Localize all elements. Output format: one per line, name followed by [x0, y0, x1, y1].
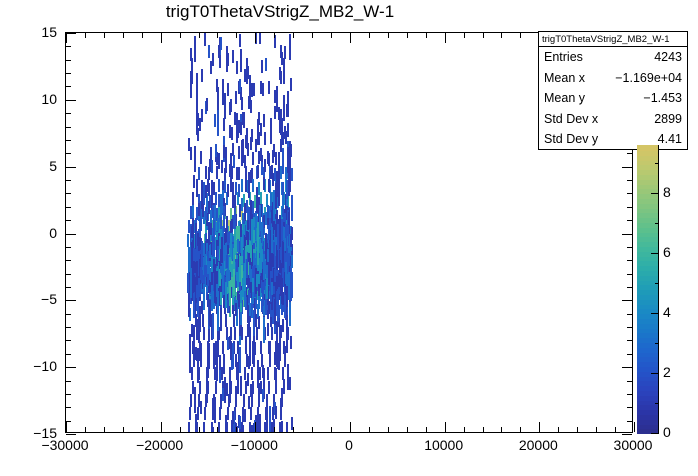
- y-axis-minor-tick-right: [627, 407, 632, 408]
- x-axis-minor-tick-top: [388, 33, 389, 38]
- y-axis-major-tick: [66, 434, 76, 435]
- heatmap-cell: [188, 248, 190, 274]
- heatmap-cell: [256, 274, 258, 287]
- heatmap-cell: [241, 179, 243, 192]
- y-axis-minor-tick: [66, 260, 71, 261]
- y-axis-minor-tick: [66, 140, 71, 141]
- heatmap-cell: [252, 179, 254, 192]
- x-axis-major-tick: [66, 422, 67, 432]
- stats-row-key: Std Dev x: [544, 109, 598, 130]
- x-axis-minor-tick-top: [293, 33, 294, 38]
- heatmap-cell: [244, 367, 246, 380]
- heatmap-cell: [244, 409, 246, 422]
- heatmap-cell: [218, 179, 220, 192]
- heatmap-cell: [208, 45, 210, 58]
- y-axis-minor-tick-right: [627, 381, 632, 382]
- heatmap-cell: [263, 177, 265, 190]
- heatmap-cell: [192, 205, 194, 218]
- x-axis-minor-tick-top: [180, 33, 181, 38]
- heatmap-cell: [204, 407, 206, 420]
- y-axis-minor-tick: [66, 340, 71, 341]
- heatmap-cell: [259, 33, 261, 44]
- heatmap-cell: [257, 375, 259, 388]
- x-axis-major-tick: [255, 422, 256, 432]
- heatmap-cell: [258, 316, 260, 329]
- heatmap-cell: [237, 239, 239, 252]
- heatmap-cell: [240, 383, 242, 396]
- x-axis-minor-tick-top: [85, 33, 86, 38]
- heatmap-cell: [260, 341, 262, 354]
- x-axis-minor-tick-top: [236, 33, 237, 38]
- heatmap-cell: [277, 296, 279, 322]
- heatmap-cell: [249, 303, 251, 316]
- heatmap-cell: [261, 162, 263, 175]
- heatmap-cell: [209, 245, 211, 258]
- color-scale-tick: [655, 283, 659, 284]
- color-scale-tick: [655, 163, 659, 164]
- heatmap-cell: [212, 53, 214, 66]
- heatmap-cell: [229, 336, 231, 349]
- heatmap-cell: [268, 227, 270, 240]
- x-axis-major-tick: [539, 422, 540, 432]
- heatmap-cell: [259, 239, 261, 252]
- heatmap-cell: [250, 384, 252, 397]
- heatmap-cell: [188, 422, 190, 432]
- heatmap-cell: [196, 261, 198, 274]
- y-axis-minor-tick-right: [627, 153, 632, 154]
- heatmap-cell: [267, 205, 269, 218]
- heatmap-cell: [201, 69, 203, 82]
- heatmap-cell: [223, 361, 225, 374]
- heatmap-cell: [290, 144, 292, 157]
- heatmap-cell: [250, 407, 252, 420]
- heatmap-cell: [213, 230, 215, 256]
- heatmap-cell: [279, 215, 281, 241]
- heatmap-cell: [190, 72, 192, 98]
- heatmap-cell: [225, 147, 227, 173]
- heatmap-cell: [247, 232, 249, 245]
- heatmap-cell: [289, 34, 291, 60]
- heatmap-cell: [245, 166, 247, 192]
- color-scale-tick: [651, 373, 659, 374]
- x-axis-minor-tick-top: [104, 33, 105, 38]
- heatmap-cell: [212, 205, 214, 218]
- x-axis-minor-tick: [85, 427, 86, 432]
- heatmap-cell: [267, 323, 269, 336]
- heatmap-cell: [190, 48, 192, 61]
- y-axis-major-tick: [66, 234, 76, 235]
- heatmap-cell: [259, 205, 261, 231]
- heatmap-cell: [225, 415, 227, 432]
- heatmap-cell: [277, 224, 279, 250]
- heatmap-cell: [226, 56, 228, 69]
- y-axis-major-tick-right: [622, 167, 632, 168]
- heatmap-cell: [224, 93, 226, 119]
- heatmap-cell: [291, 168, 293, 181]
- heatmap-cell: [232, 343, 234, 369]
- y-axis-minor-tick: [66, 394, 71, 395]
- heatmap-cell: [187, 234, 189, 247]
- x-axis-minor-tick: [520, 427, 521, 432]
- x-axis-tick-label: 20000: [493, 437, 583, 453]
- heatmap-cell: [219, 273, 221, 286]
- heatmap-cell: [268, 179, 270, 192]
- stats-row-value: 2899: [654, 109, 682, 130]
- x-axis-minor-tick: [199, 427, 200, 432]
- heatmap-cell: [216, 79, 218, 92]
- heatmap-cell: [274, 269, 276, 282]
- y-axis-minor-tick: [66, 287, 71, 288]
- heatmap-cell: [205, 207, 207, 220]
- heatmap-cell: [215, 381, 217, 394]
- heatmap-cell: [289, 377, 291, 390]
- x-axis-minor-tick-top: [274, 33, 275, 38]
- heatmap-cell: [258, 394, 260, 407]
- heatmap-cell: [269, 406, 271, 432]
- heatmap-cell: [288, 212, 290, 225]
- heatmap-cell: [221, 160, 223, 173]
- heatmap-cell: [283, 379, 285, 392]
- heatmap-cell: [248, 290, 250, 303]
- color-scale-tick: [651, 433, 659, 434]
- heatmap-cell: [209, 300, 211, 326]
- x-axis-tick-label: −20000: [115, 437, 205, 453]
- heatmap-cell: [241, 327, 243, 340]
- heatmap-cell: [275, 152, 277, 165]
- heatmap-cell: [262, 365, 264, 378]
- color-scale-tick: [655, 403, 659, 404]
- heatmap-cell: [237, 362, 239, 388]
- heatmap-cell: [239, 416, 241, 429]
- x-axis-minor-tick: [407, 427, 408, 432]
- heatmap-cell: [287, 124, 289, 137]
- heatmap-cell: [231, 127, 233, 140]
- heatmap-cell: [227, 83, 229, 96]
- x-axis-minor-tick-top: [123, 33, 124, 38]
- y-axis-minor-tick-right: [627, 327, 632, 328]
- heatmap-cell: [279, 67, 281, 80]
- heatmap-cell: [291, 255, 293, 268]
- stats-row: Std Dev x2899: [539, 109, 687, 130]
- x-axis-minor-tick: [558, 427, 559, 432]
- heatmap-cell: [212, 313, 214, 339]
- heatmap-cell: [216, 355, 218, 381]
- heatmap-cell: [198, 317, 200, 343]
- x-axis-minor-tick: [388, 427, 389, 432]
- y-axis-tick-label: 5: [11, 158, 57, 174]
- heatmap-cell: [247, 324, 249, 337]
- heatmap-cell: [258, 283, 260, 296]
- heatmap-cell: [225, 229, 227, 242]
- stats-box[interactable]: trigT0ThetaVStrigZ_MB2_W-1 Entries4243Me…: [538, 31, 688, 150]
- y-axis-minor-tick: [66, 73, 71, 74]
- heatmap-cell: [248, 396, 250, 409]
- x-axis-minor-tick: [217, 427, 218, 432]
- heatmap-cell: [262, 389, 264, 402]
- heatmap-cell: [264, 132, 266, 145]
- color-scale-tick-label: 0: [663, 424, 671, 440]
- heatmap-cell: [205, 166, 207, 179]
- heatmap-cell: [280, 398, 282, 411]
- x-axis-minor-tick-top: [426, 33, 427, 38]
- y-axis-tick-label: −10: [11, 358, 57, 374]
- y-axis-minor-tick: [66, 180, 71, 181]
- heatmap-cell: [247, 373, 249, 386]
- heatmap-cell: [257, 304, 259, 317]
- y-axis-minor-tick: [66, 220, 71, 221]
- y-axis-minor-tick: [66, 207, 71, 208]
- x-axis-minor-tick-top: [217, 33, 218, 38]
- x-axis-tick-label: −10000: [209, 437, 299, 453]
- heatmap-cell: [276, 321, 278, 347]
- heatmap-cell: [240, 49, 242, 62]
- heatmap-cell: [232, 50, 234, 63]
- y-axis-minor-tick: [66, 193, 71, 194]
- x-axis-minor-tick-top: [142, 33, 143, 38]
- x-axis-major-tick: [634, 422, 635, 432]
- heatmap-cell: [284, 46, 286, 59]
- heatmap-cell: [216, 271, 218, 284]
- y-axis-minor-tick: [66, 354, 71, 355]
- heatmap-cell: [193, 325, 195, 351]
- heatmap-cell: [218, 156, 220, 169]
- y-axis-major-tick-right: [622, 434, 632, 435]
- heatmap-cell: [269, 354, 271, 367]
- heatmap-cell: [193, 292, 195, 318]
- y-axis-minor-tick: [66, 274, 71, 275]
- heatmap-cell: [243, 394, 245, 407]
- heatmap-cell: [200, 354, 202, 367]
- heatmap-cell: [248, 356, 250, 369]
- x-axis-minor-tick: [596, 427, 597, 432]
- y-axis-minor-tick-right: [627, 274, 632, 275]
- heatmap-cell: [275, 406, 277, 419]
- heatmap-cell: [273, 190, 275, 216]
- heatmap-cell: [222, 341, 224, 354]
- color-scale-tick: [655, 343, 659, 344]
- heatmap-cell: [285, 271, 287, 284]
- heatmap-cell: [242, 150, 244, 163]
- heatmap-cell: [221, 237, 223, 263]
- heatmap-cell: [206, 377, 208, 403]
- page-title: trigT0ThetaVStrigZ_MB2_W-1: [0, 2, 560, 22]
- heatmap-cell: [214, 114, 216, 127]
- y-axis-minor-tick-right: [627, 260, 632, 261]
- stats-row-key: Mean x: [544, 68, 585, 89]
- x-axis-minor-tick: [483, 427, 484, 432]
- heatmap-cell: [222, 260, 224, 286]
- heatmap-cell: [267, 151, 269, 164]
- heatmap-cell: [211, 180, 213, 193]
- x-axis-minor-tick: [615, 427, 616, 432]
- y-axis-major-tick-right: [622, 234, 632, 235]
- heatmap-cell: [236, 61, 238, 74]
- heatmap-cell: [226, 255, 228, 268]
- heatmap-cell: [270, 118, 272, 144]
- heatmap-cell: [267, 367, 269, 380]
- y-axis-tick-label: 10: [11, 91, 57, 107]
- heatmap-cell: [271, 282, 273, 295]
- y-axis-minor-tick: [66, 127, 71, 128]
- heatmap-cell: [211, 285, 213, 311]
- y-axis-minor-tick-right: [627, 340, 632, 341]
- heatmap-cell: [190, 394, 192, 407]
- heatmap-cell: [192, 280, 194, 293]
- heatmap-cell: [290, 78, 292, 91]
- heatmap-cell: [227, 232, 229, 245]
- stats-row-key: Std Dev y: [544, 129, 598, 150]
- heatmap-cell: [227, 184, 229, 197]
- heatmap-cell: [196, 184, 198, 197]
- heatmap-cell: [282, 182, 284, 195]
- x-axis-minor-tick: [104, 427, 105, 432]
- heatmap-cell: [241, 198, 243, 211]
- heatmap-cell: [268, 381, 270, 394]
- heatmap-cell: [199, 381, 201, 394]
- heatmap-cell: [240, 312, 242, 325]
- heatmap-cell: [276, 86, 278, 112]
- heatmap-cell: [225, 282, 227, 308]
- heatmap-cell: [253, 83, 255, 96]
- heatmap-cell: [287, 91, 289, 117]
- heatmap-cell: [290, 288, 292, 301]
- heatmap-cell: [229, 377, 231, 403]
- y-axis-major-tick: [66, 367, 76, 368]
- heatmap-cell: [207, 273, 209, 286]
- heatmap-cell: [213, 220, 215, 233]
- heatmap-cell: [252, 152, 254, 165]
- heatmap-cell: [224, 377, 226, 403]
- heatmap-cell: [195, 417, 197, 432]
- heatmap-cell: [261, 60, 263, 73]
- heatmap-cell: [282, 319, 284, 332]
- heatmap-cell: [217, 110, 219, 136]
- heatmap-cell: [246, 200, 248, 213]
- heatmap-cell: [245, 135, 247, 148]
- y-axis-minor-tick-right: [627, 180, 632, 181]
- heatmap-cell: [191, 242, 193, 268]
- x-axis-major-tick-top: [161, 33, 162, 43]
- heatmap-cell: [267, 249, 269, 262]
- x-axis-minor-tick: [142, 427, 143, 432]
- x-axis-major-tick: [350, 422, 351, 432]
- heatmap-cell: [271, 165, 273, 178]
- heatmap-cell: [239, 79, 241, 92]
- heatmap-cell: [215, 144, 217, 157]
- heatmap-cell: [241, 265, 243, 278]
- heatmap-cell: [282, 195, 284, 208]
- heatmap-cell: [286, 422, 288, 432]
- heatmap-cell: [276, 210, 278, 223]
- color-scale-tick-label: 6: [663, 244, 671, 260]
- heatmap-cell: [211, 160, 213, 173]
- x-axis-minor-tick: [293, 427, 294, 432]
- heatmap-cell: [189, 334, 191, 360]
- stats-row: Entries4243: [539, 47, 687, 68]
- y-axis-minor-tick: [66, 247, 71, 248]
- heatmap-cell: [272, 150, 274, 163]
- heatmap-cell: [280, 275, 282, 288]
- heatmap-cell: [256, 187, 258, 213]
- stats-row: Mean y−1.453: [539, 88, 687, 109]
- heatmap-cell: [220, 292, 222, 305]
- y-axis-minor-tick-right: [627, 421, 632, 422]
- y-axis-major-tick: [66, 167, 76, 168]
- x-axis-minor-tick-top: [483, 33, 484, 38]
- heatmap-cell: [226, 383, 228, 396]
- heatmap-cell: [223, 206, 225, 232]
- heatmap-cell: [197, 113, 199, 126]
- heatmap-cell: [200, 267, 202, 280]
- heatmap-cell: [284, 305, 286, 318]
- heatmap-cell: [270, 193, 272, 206]
- heatmap-cell: [229, 280, 231, 306]
- heatmap-cell: [211, 272, 213, 285]
- y-axis-minor-tick: [66, 407, 71, 408]
- heatmap-cell: [250, 137, 252, 150]
- y-axis-tick-label: 0: [11, 225, 57, 241]
- y-axis-minor-tick: [66, 46, 71, 47]
- heatmap-cell: [275, 368, 277, 394]
- y-axis-major-tick-right: [622, 367, 632, 368]
- stats-row-key: Entries: [544, 47, 583, 68]
- heatmap-cell: [197, 357, 199, 383]
- heatmap-cell: [252, 201, 254, 214]
- heatmap-cell: [236, 117, 238, 143]
- heatmap-cell: [262, 83, 264, 96]
- y-axis-minor-tick: [66, 60, 71, 61]
- heatmap-cell: [258, 132, 260, 145]
- y-axis-minor-tick: [66, 153, 71, 154]
- y-axis-minor-tick-right: [627, 193, 632, 194]
- heatmap-cell: [229, 102, 231, 115]
- heatmap-cell: [220, 204, 222, 217]
- heatmap-cell: [208, 343, 210, 369]
- heatmap-cell: [201, 109, 203, 122]
- heatmap-cell: [266, 405, 268, 431]
- root-canvas: trigT0ThetaVStrigZ_MB2_W-1 −30000−20000−…: [0, 0, 698, 476]
- heatmap-cell: [225, 314, 227, 327]
- x-axis-minor-tick: [577, 427, 578, 432]
- heatmap-cell: [189, 407, 191, 420]
- stats-row: Mean x−1.169e+04: [539, 68, 687, 89]
- x-axis-minor-tick-top: [520, 33, 521, 38]
- heatmap-cell: [253, 230, 255, 243]
- stats-row-value: 4.41: [658, 129, 682, 150]
- stats-row-value: −1.453: [643, 88, 682, 109]
- heatmap-cell: [283, 58, 285, 84]
- x-axis-minor-tick-top: [312, 33, 313, 38]
- heatmap-cell: [278, 274, 280, 287]
- heatmap-cell: [235, 91, 237, 104]
- heatmap-cell: [286, 327, 288, 353]
- x-axis-major-tick-top: [66, 33, 67, 43]
- heatmap-cell: [268, 272, 270, 285]
- heatmap-cell: [242, 425, 244, 432]
- heatmap-cell: [206, 98, 208, 111]
- heatmap-cell: [252, 381, 254, 394]
- heatmap-cell: [290, 336, 292, 349]
- color-scale-tick: [651, 313, 659, 314]
- heatmap-cell: [256, 327, 258, 340]
- heatmap-cell: [282, 148, 284, 174]
- heatmap-cell: [249, 265, 251, 278]
- heatmap-cell: [239, 347, 241, 373]
- x-axis-minor-tick: [236, 427, 237, 432]
- heatmap-cell: [189, 360, 191, 373]
- x-axis-major-tick: [161, 422, 162, 432]
- x-axis-minor-tick: [274, 427, 275, 432]
